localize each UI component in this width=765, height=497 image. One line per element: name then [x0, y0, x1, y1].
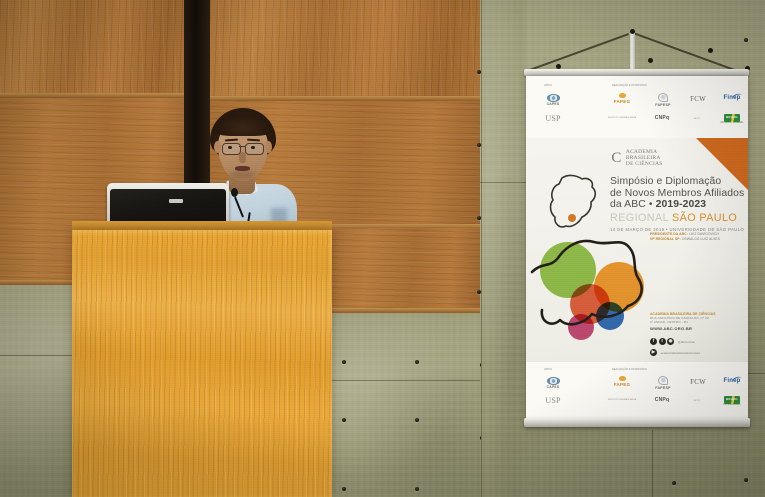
cnpq-logo: CNPq	[646, 115, 678, 121]
eyeglasses-lens-right	[245, 143, 264, 155]
concrete-wall-lower-right	[330, 313, 480, 497]
banner-address-block: ACADEMIA BRASILEIRA DE CIÊNCIAS RUA ANFI…	[650, 312, 716, 331]
wall-seam-lower-right	[330, 380, 480, 381]
wall-bolt	[672, 481, 676, 485]
wall-bolt	[415, 487, 419, 491]
youtube-handle: academiabrasileiradeciencias	[661, 351, 700, 355]
abc-monogram: C	[611, 152, 621, 165]
twitter-icon[interactable]: t	[659, 338, 666, 345]
sponsor-brasil-bottom: BRASIL PÁTRIA AMADA	[716, 396, 748, 407]
sponsor-serrapilheira-bottom: INSTITUTO SERRAPILHEIRA	[604, 399, 640, 401]
sponsor-name: FAPEG	[606, 382, 638, 387]
fapeg-logo	[619, 93, 626, 98]
sponsor-name: INSTITUTO SERRAPILHEIRA	[604, 117, 640, 119]
fcw-logo: FCW	[684, 378, 712, 386]
sponsor-fapesp-bottom: FAPESP	[648, 376, 678, 390]
sao-paulo-marker	[568, 214, 576, 222]
wall-bolt	[744, 478, 748, 482]
sponsor-name: MCTIC	[680, 400, 714, 402]
brasil-sub-text: PÁTRIA AMADA	[716, 404, 748, 407]
banner-base-cassette	[524, 418, 750, 427]
social-row-youtube[interactable]: ▶ academiabrasileiradeciencias	[650, 349, 700, 356]
banner-title-block: Simpósio e Diplomação de Novos Membros A…	[610, 176, 746, 233]
abc-logo-words: ACADEMIA BRASILEIRA DE CIÊNCIAS	[626, 150, 663, 167]
cnpq-logo: CNPq	[646, 397, 678, 403]
address-website: WWW.ABC.ORG.BR	[650, 327, 716, 331]
sponsor-label-left-bottom: Apoio	[544, 368, 552, 371]
brasil-logo: BRASIL	[724, 114, 740, 122]
abc-logo: C ACADEMIA BRASILEIRA DE CIÊNCIAS	[598, 150, 676, 168]
sponsor-finep: Finep	[718, 95, 746, 101]
social-row-primary[interactable]: f t ◉ @abciencias	[650, 338, 695, 345]
wall-bolt	[477, 143, 481, 147]
banner-arm-knob	[630, 29, 635, 34]
banner-top-rail	[524, 69, 749, 76]
capes-logo	[547, 94, 560, 102]
brasil-flag-text: BRASIL	[726, 397, 738, 401]
brasil-logo: BRASIL	[724, 396, 740, 404]
subtitle-light: REGIONAL	[610, 212, 672, 224]
sponsor-serrapilheira: INSTITUTO SERRAPILHEIRA	[604, 117, 640, 119]
brasil-sub-text: GOVERNO FEDERAL	[716, 122, 748, 125]
fapesp-logo	[658, 93, 668, 102]
brazil-map-outline	[542, 172, 608, 234]
laptop-lid-logo	[169, 199, 183, 203]
eyeglasses-bridge	[239, 146, 245, 147]
wall-bolt	[415, 418, 419, 422]
banner-arm-knob	[708, 48, 713, 53]
usp-logo: USP	[538, 396, 568, 405]
sponsor-fcw: FCW	[684, 95, 712, 103]
banner-support-arm-left	[527, 33, 629, 71]
speaker-nose	[239, 152, 246, 163]
credit-value: OSWALDO LUIZ ALVES	[682, 237, 720, 241]
credit-value: LUIZ DAVIDOVICH	[689, 232, 719, 236]
pillar-seam-vertical	[481, 0, 482, 497]
sponsor-fapeg-bottom: FAPEG	[606, 376, 638, 387]
sponsor-mctic-bottom: MCTIC	[680, 400, 714, 402]
wood-panel-upper-left	[0, 0, 184, 96]
sponsor-cnpq-bottom: CNPq	[646, 397, 678, 403]
title-line-3-prefix: da ABC	[610, 199, 649, 210]
abc-word-3: DE CIÊNCIAS	[626, 161, 663, 167]
title-subtitle: REGIONAL SÃO PAULO	[610, 212, 746, 224]
fapesp-logo	[658, 376, 668, 385]
usp-logo: USP	[538, 114, 568, 123]
social-handle: @abciencias	[678, 340, 695, 344]
subtitle-bold: SÃO PAULO	[672, 212, 737, 224]
brazil-contour-line	[528, 228, 658, 346]
sponsor-label-right-bottom: Realização e patrocínio	[612, 368, 647, 371]
wall-bolt	[342, 487, 346, 491]
sponsor-label-right: Realização e patrocínio	[612, 84, 647, 87]
sponsor-name: CAPES	[538, 102, 568, 106]
sponsor-name: FAPESP	[648, 103, 678, 107]
title-line-3-years: 2019-2023	[656, 199, 707, 210]
sponsor-strip-top: Apoio Realização e patrocínio CAPES FAPE…	[526, 76, 748, 138]
title-line-3: da ABC • 2019-2023	[610, 199, 746, 211]
wood-panel-behind-podium	[330, 228, 480, 312]
speaker-ear	[265, 141, 272, 153]
speaker-eye	[228, 146, 232, 149]
title-line-1: Simpósio e Diplomação	[610, 176, 746, 188]
wall-bolt	[342, 360, 346, 364]
sponsor-name: INSTITUTO SERRAPILHEIRA	[604, 399, 640, 401]
brasil-flag-text: BRASIL	[726, 115, 738, 119]
youtube-icon[interactable]: ▶	[650, 349, 657, 356]
banner-vertical-pole	[630, 32, 635, 72]
conference-photo-scene: Apoio Realização e patrocínio CAPES FAPE…	[0, 0, 765, 497]
speaker-eye	[251, 146, 255, 149]
podium-front-panel	[72, 230, 332, 497]
fapeg-logo	[619, 376, 626, 381]
sponsor-finep-bottom: Finep	[718, 378, 746, 384]
capes-logo	[547, 377, 560, 385]
microphone-head	[231, 188, 238, 197]
eyeglasses-lens-left	[222, 143, 241, 155]
credit-row: VP REGIONAL SP: OSWALDO LUIZ ALVES	[650, 237, 720, 242]
fcw-logo: FCW	[684, 95, 712, 103]
sponsor-fapesp: FAPESP	[648, 93, 678, 107]
sponsor-usp-bottom: USP	[538, 396, 568, 405]
sponsor-fcw-bottom: FCW	[684, 378, 712, 386]
banner-support-arm-right	[633, 32, 735, 70]
speaker-ear	[214, 141, 221, 153]
title-line-3-bullet: •	[649, 199, 653, 210]
facebook-icon[interactable]: f	[650, 338, 657, 345]
sponsor-strip-bottom: Apoio Realização e patrocínio CAPES FAPE…	[526, 362, 748, 420]
sponsor-capes: CAPES	[538, 94, 568, 106]
sponsor-usp: USP	[538, 114, 568, 123]
title-line-2: de Novos Membros Afiliados	[610, 188, 746, 200]
sponsor-name: FAPEG	[606, 99, 638, 104]
wall-bolt	[415, 360, 419, 364]
sponsor-name: CAPES	[538, 385, 568, 389]
instagram-icon[interactable]: ◉	[667, 338, 674, 345]
sponsor-capes-bottom: CAPES	[538, 377, 568, 389]
speaker-chin-shadow	[229, 171, 255, 179]
sponsor-name: MCTIC	[680, 118, 714, 120]
address-line-2: 3º ANDAR, CENTRO - RJ	[650, 320, 716, 324]
sponsor-cnpq: CNPq	[646, 115, 678, 121]
banner-arm-knob	[648, 58, 653, 63]
wall-bolt	[477, 216, 481, 220]
sponsor-brasil: BRASIL GOVERNO FEDERAL	[716, 114, 748, 125]
banner-printed-face: Apoio Realização e patrocínio CAPES FAPE…	[526, 76, 748, 420]
wall-bolt	[477, 290, 481, 294]
wood-panel-upper-right	[210, 0, 480, 99]
sponsor-mctic: MCTIC	[680, 118, 714, 120]
wall-bolt	[477, 70, 481, 74]
sponsor-name: FAPESP	[648, 386, 678, 390]
wall-bolt	[342, 418, 346, 422]
banner-credits: PRESIDENTE DA ABC: LUIZ DAVIDOVICH VP RE…	[650, 232, 720, 241]
sponsor-label-left: Apoio	[544, 84, 552, 87]
rollup-banner: Apoio Realização e patrocínio CAPES FAPE…	[520, 28, 765, 478]
sponsor-fapeg: FAPEG	[606, 93, 638, 104]
